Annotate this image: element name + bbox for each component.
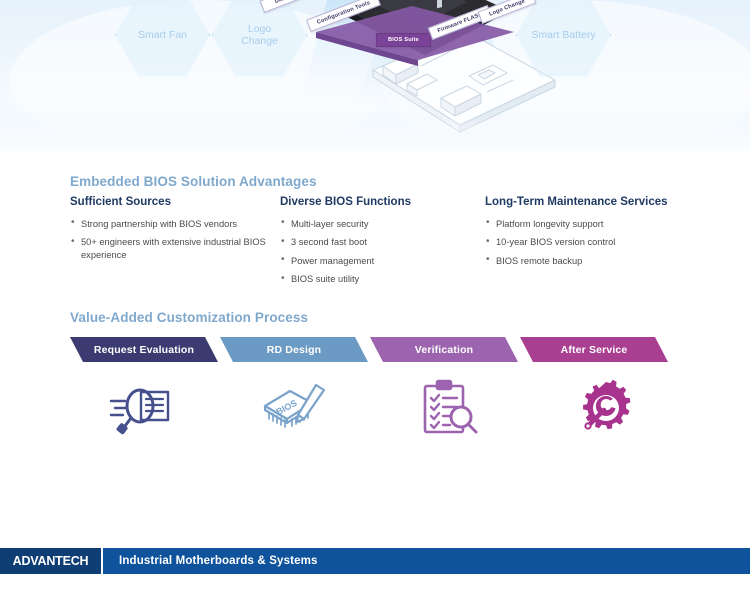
hexagon-smart-fan-label: Smart Fan: [138, 29, 187, 41]
footer-bar: ADVANTECH Industrial Motherboards & Syst…: [0, 548, 750, 574]
advantech-logo: ADVANTECH: [0, 548, 103, 574]
process-icon-cell-request-evaluation: [60, 362, 222, 454]
advantage-heading: Long-Term Maintenance Services: [485, 196, 676, 210]
process-step-after-service[interactable]: After Service: [520, 337, 668, 362]
magnifier-document-icon: [108, 379, 174, 437]
advantages-title: Embedded BIOS Solution Advantages: [70, 174, 317, 189]
process-title: Value-Added Customization Process: [70, 310, 308, 325]
advantech-logo-text: ADVANTECH: [13, 554, 89, 568]
tag-bios-suite-label: BIOS Suite: [388, 37, 419, 43]
advantage-column-diverse-bios-functions: Diverse BIOS Functions Multi-layer secur…: [280, 196, 485, 292]
hero-diagram: Smart Fan Logo Change Smart Battery DMI …: [0, 0, 750, 162]
process-icon-cell-rd-design: BIOS: [215, 362, 377, 454]
list-item: Strong partnership with BIOS vendors: [70, 218, 266, 231]
process-icon-cell-verification: [370, 362, 532, 454]
process-step-label: Request Evaluation: [94, 344, 194, 356]
advantage-column-sufficient-sources: Sufficient Sources Strong partnership wi…: [70, 196, 280, 292]
list-item: Platform longevity support: [485, 218, 676, 231]
clipboard-checklist-magnifier-icon: [420, 378, 482, 438]
hexagon-logo-change-label: Logo Change: [241, 23, 278, 47]
process-step-request-evaluation[interactable]: Request Evaluation: [70, 337, 218, 362]
process-step-rd-design[interactable]: RD Design: [220, 337, 368, 362]
process-icon-cell-after-service: [525, 362, 687, 454]
process-step-label: Verification: [415, 344, 473, 356]
advantage-heading: Sufficient Sources: [70, 196, 266, 210]
list-item: 10-year BIOS version control: [485, 236, 676, 249]
list-item: Multi-layer security: [280, 218, 471, 231]
hexagon-smart-battery-label: Smart Battery: [531, 29, 595, 41]
list-item: 50+ engineers with extensive industrial …: [70, 236, 266, 261]
advantage-list: Platform longevity support 10-year BIOS …: [485, 218, 676, 268]
process-step-bar: Request Evaluation RD Design Verificatio…: [70, 337, 680, 362]
tag-bios-suite: BIOS Suite: [376, 33, 431, 47]
advantages-columns: Sufficient Sources Strong partnership wi…: [70, 196, 690, 292]
advantage-column-long-term-maintenance: Long-Term Maintenance Services Platform …: [485, 196, 690, 292]
advantage-list: Multi-layer security 3 second fast boot …: [280, 218, 471, 286]
list-item: Power management: [280, 255, 471, 268]
list-item: 3 second fast boot: [280, 236, 471, 249]
advantage-list: Strong partnership with BIOS vendors 50+…: [70, 218, 266, 262]
list-item: BIOS remote backup: [485, 255, 676, 268]
bios-chip-pencil-icon: BIOS: [260, 379, 332, 437]
gear-wrench-icon: [577, 379, 635, 437]
footer-tagline: Industrial Motherboards & Systems: [103, 548, 318, 574]
process-step-label: RD Design: [267, 344, 321, 356]
process-icon-row: BIOS: [60, 362, 690, 457]
list-item: BIOS suite utility: [280, 273, 471, 286]
process-step-label: After Service: [561, 344, 628, 356]
process-step-verification[interactable]: Verification: [370, 337, 518, 362]
advantage-heading: Diverse BIOS Functions: [280, 196, 471, 210]
